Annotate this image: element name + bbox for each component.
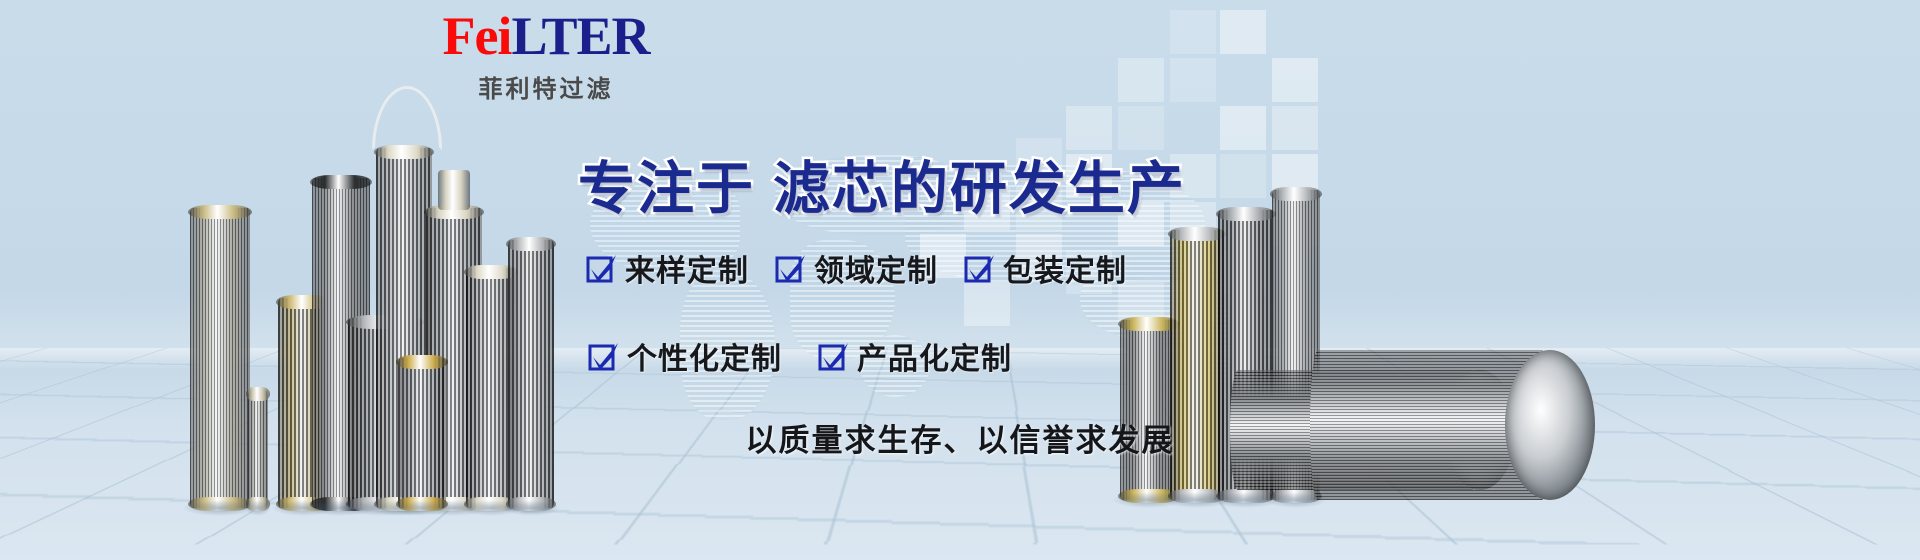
brand-wordmark: FeiLTER [396, 8, 696, 65]
brand-logo[interactable]: FeiLTER 菲利特过滤 [396, 8, 696, 104]
feature-item: 个性化定制 [588, 334, 782, 378]
filter-cartridge [508, 240, 554, 508]
feature-item: 来样定制 [586, 246, 749, 290]
checkbox-checked-icon [818, 341, 848, 371]
brand-tagline: 以质量求生存、以信誉求发展 [0, 415, 1920, 460]
brand-subtitle: 菲利特过滤 [396, 69, 696, 104]
brand-wordmark-part1: Fei [442, 6, 511, 66]
feature-label: 产品化定制 [857, 334, 1012, 378]
page-title: 专注于 滤芯的研发生产 [578, 143, 1186, 225]
feature-label: 来样定制 [625, 246, 749, 290]
checkbox-checked-icon [775, 253, 805, 283]
feature-label: 领域定制 [814, 246, 938, 290]
filter-cartridge [190, 208, 250, 508]
feature-item: 产品化定制 [818, 334, 1012, 378]
checkbox-checked-icon [588, 341, 618, 371]
feature-row-2: 个性化定制 产品化定制 [588, 334, 1226, 378]
feature-label: 包装定制 [1003, 246, 1127, 290]
checkbox-checked-icon [586, 253, 616, 283]
feature-row-1: 来样定制 领域定制 包装定制 [586, 246, 1226, 290]
feature-item: 包装定制 [964, 246, 1127, 290]
feature-list: 来样定制 领域定制 包装定制 个性化定制 [586, 246, 1226, 378]
feature-label: 个性化定制 [627, 334, 782, 378]
brand-wordmark-part2: LTER [511, 6, 649, 66]
checkbox-checked-icon [964, 253, 994, 283]
product-hero-banner: FeiLTER 菲利特过滤 专注于 滤芯的研发生产 来样定制 领域定制 [0, 0, 1920, 560]
feature-item: 领域定制 [775, 246, 938, 290]
